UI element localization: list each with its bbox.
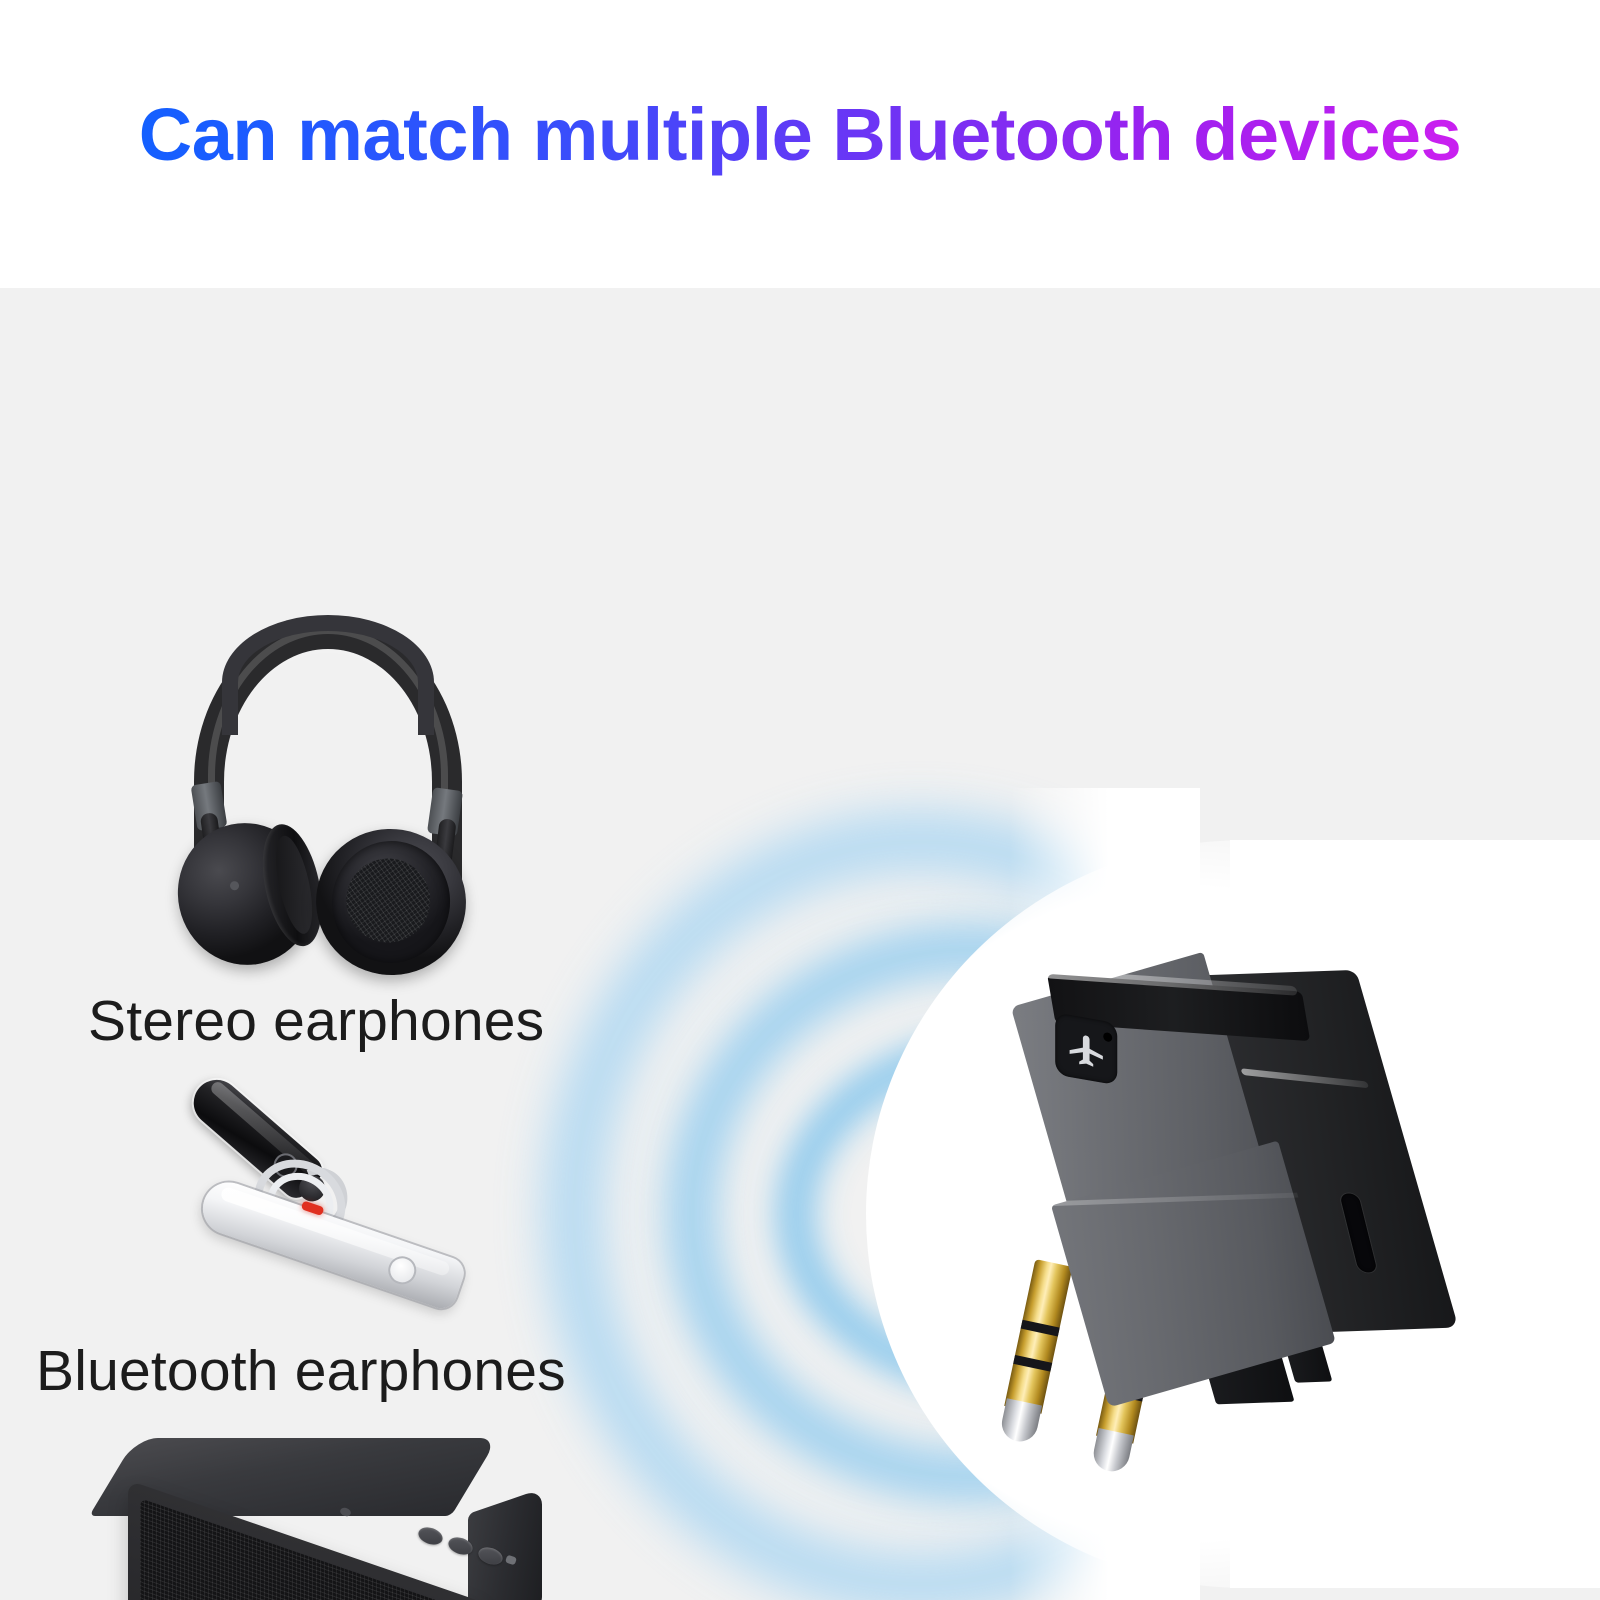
content-panel: Stereo earphones Bluetooth earphones [0, 288, 1600, 1600]
page-title: Can match multiple Bluetooth devices [0, 92, 1600, 177]
headset-white [196, 1175, 468, 1312]
product-image-adapter [940, 908, 1500, 1448]
prong-tip [999, 1398, 1043, 1445]
headphone-headband-pad [222, 615, 434, 735]
speaker-side-face [468, 1489, 542, 1600]
device-label-bluetooth-earphones: Bluetooth earphones [36, 1338, 566, 1404]
bluetooth-headset-icon [175, 1108, 485, 1308]
adapter-rotation-wrapper [876, 841, 1563, 1514]
prong-shaft [1004, 1259, 1072, 1414]
prong-tip [1090, 1428, 1134, 1475]
headphones-icon [168, 613, 488, 963]
audio-prong-1 [998, 1259, 1072, 1441]
speaker-body [128, 1436, 543, 1600]
bluetooth-speaker-icon [128, 1436, 543, 1600]
banner-header: Can match multiple Bluetooth devices [0, 0, 1600, 288]
product-feature-banner: Can match multiple Bluetooth devices [0, 0, 1600, 1600]
airplane-icon [1055, 1012, 1117, 1085]
device-label-stereo-earphones: Stereo earphones [88, 988, 544, 1054]
speaker-button-1 [416, 1524, 445, 1547]
earcup-logo-dot [229, 880, 240, 891]
